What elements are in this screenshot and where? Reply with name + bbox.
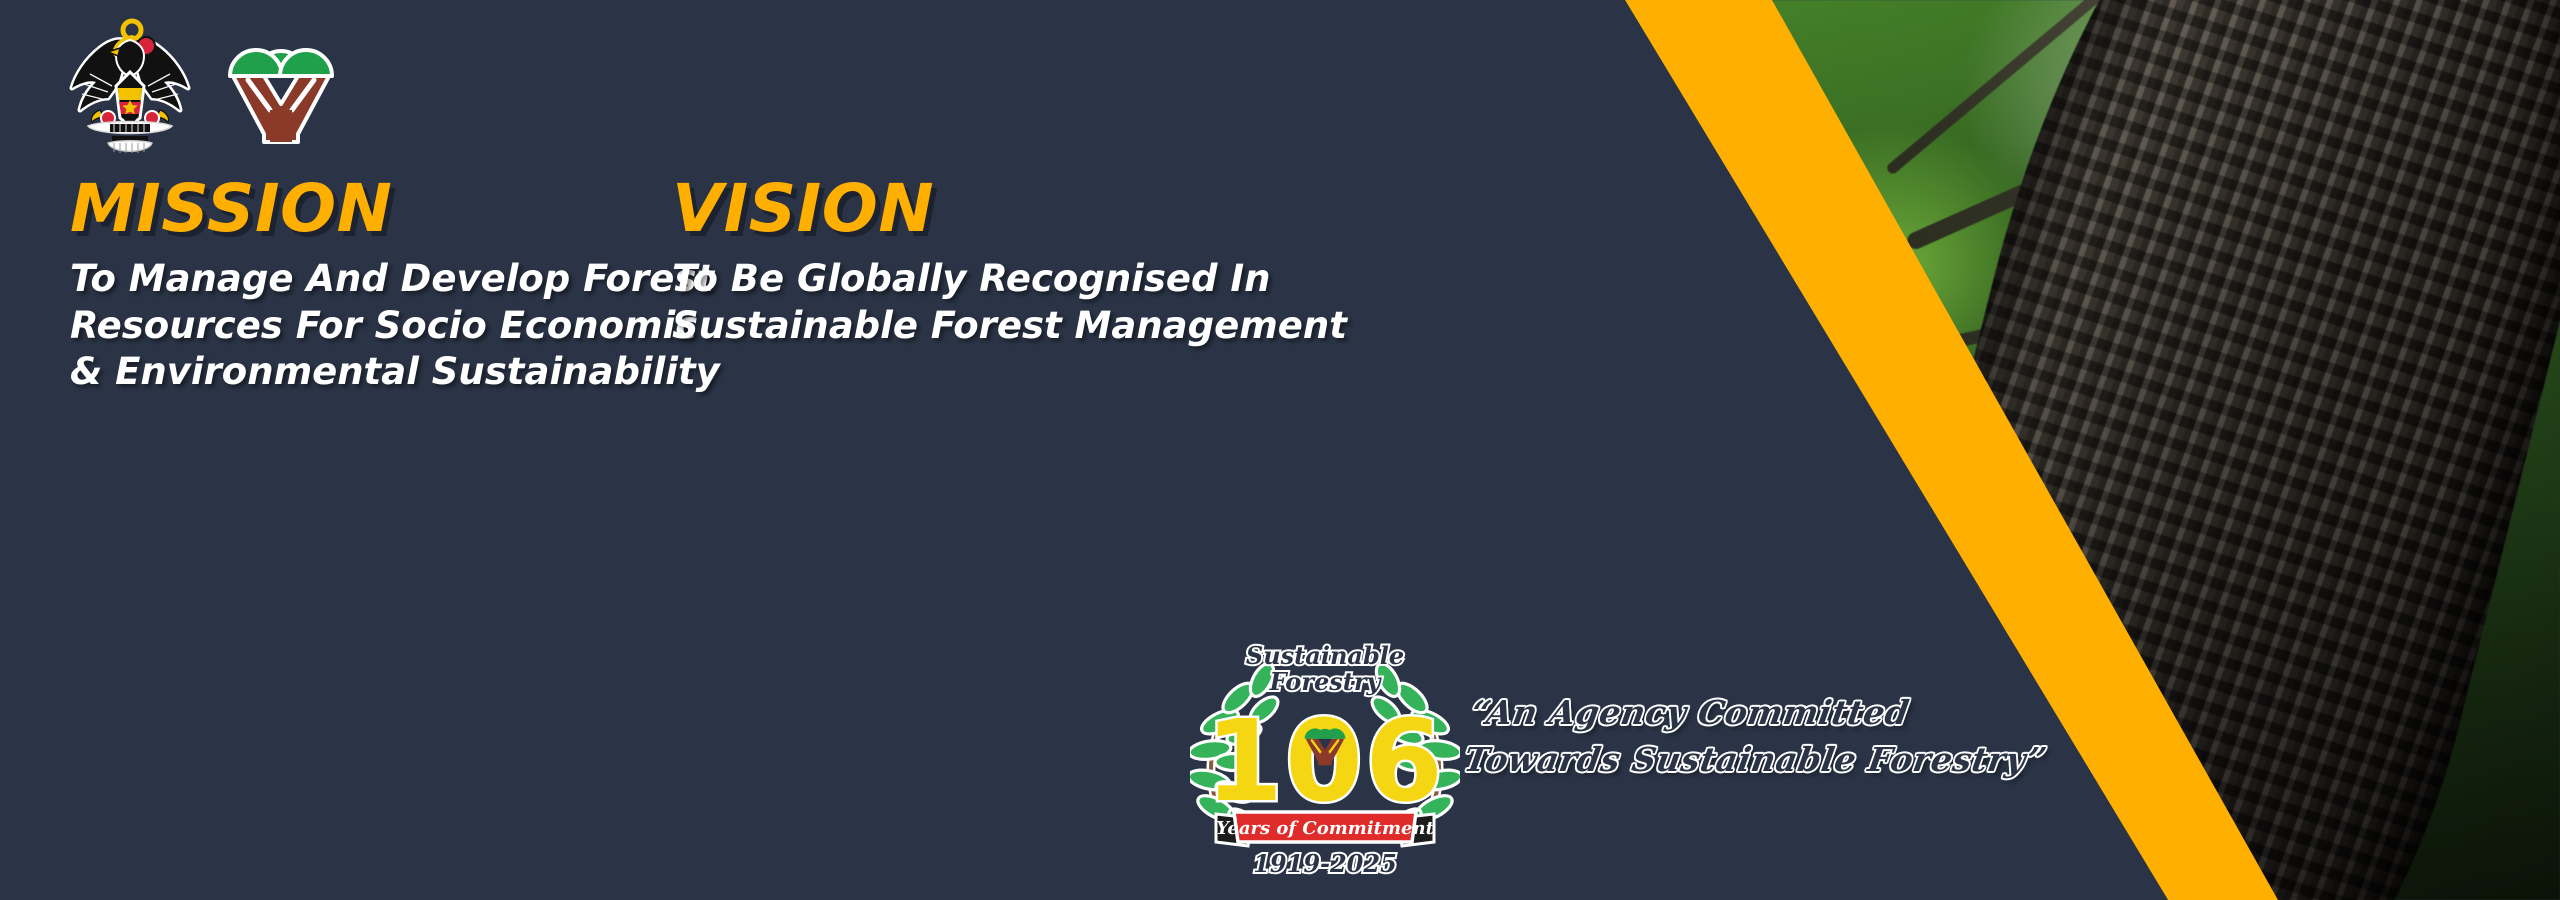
vision-line-1: To Be Globally Recognised In (672, 256, 1312, 303)
vision-line-2: Sustainable Forest Management (672, 303, 1312, 350)
tagline-line-1: “An Agency Committed (1468, 690, 2095, 737)
vision-heading: VISION (672, 176, 1312, 242)
vision-block: VISION To Be Globally Recognised In Sust… (672, 176, 1312, 349)
mission-line-1: To Manage And Develop Forest (70, 256, 690, 303)
mission-line-2: Resources For Socio Economic (70, 303, 690, 350)
sarawak-state-crest (60, 14, 200, 156)
mission-line-3: & Environmental Sustainability (70, 349, 690, 396)
emblem-top-line2: Forestry (1269, 667, 1383, 696)
tagline: “An Agency Committed Towards Sustainable… (1461, 690, 2096, 784)
mission-block: MISSION To Manage And Develop Forest Res… (70, 176, 690, 396)
logo-group (60, 14, 336, 156)
mission-heading: MISSION (70, 176, 690, 242)
emblem-ribbon-text: Years of Commitment (1216, 818, 1434, 839)
emblem-years: 1919-2025 (1253, 849, 1397, 878)
emblem-top-line1: Sustainable (1246, 641, 1404, 670)
tagline-line-2: Towards Sustainable Forestry” (1461, 737, 2088, 784)
mission-vision-banner: MISSION To Manage And Develop Forest Res… (0, 0, 2560, 900)
forestry-tree-logo (226, 14, 336, 144)
anniversary-emblem-106: Sustainable Forestry 106 Years of Commit… (1190, 632, 1460, 882)
